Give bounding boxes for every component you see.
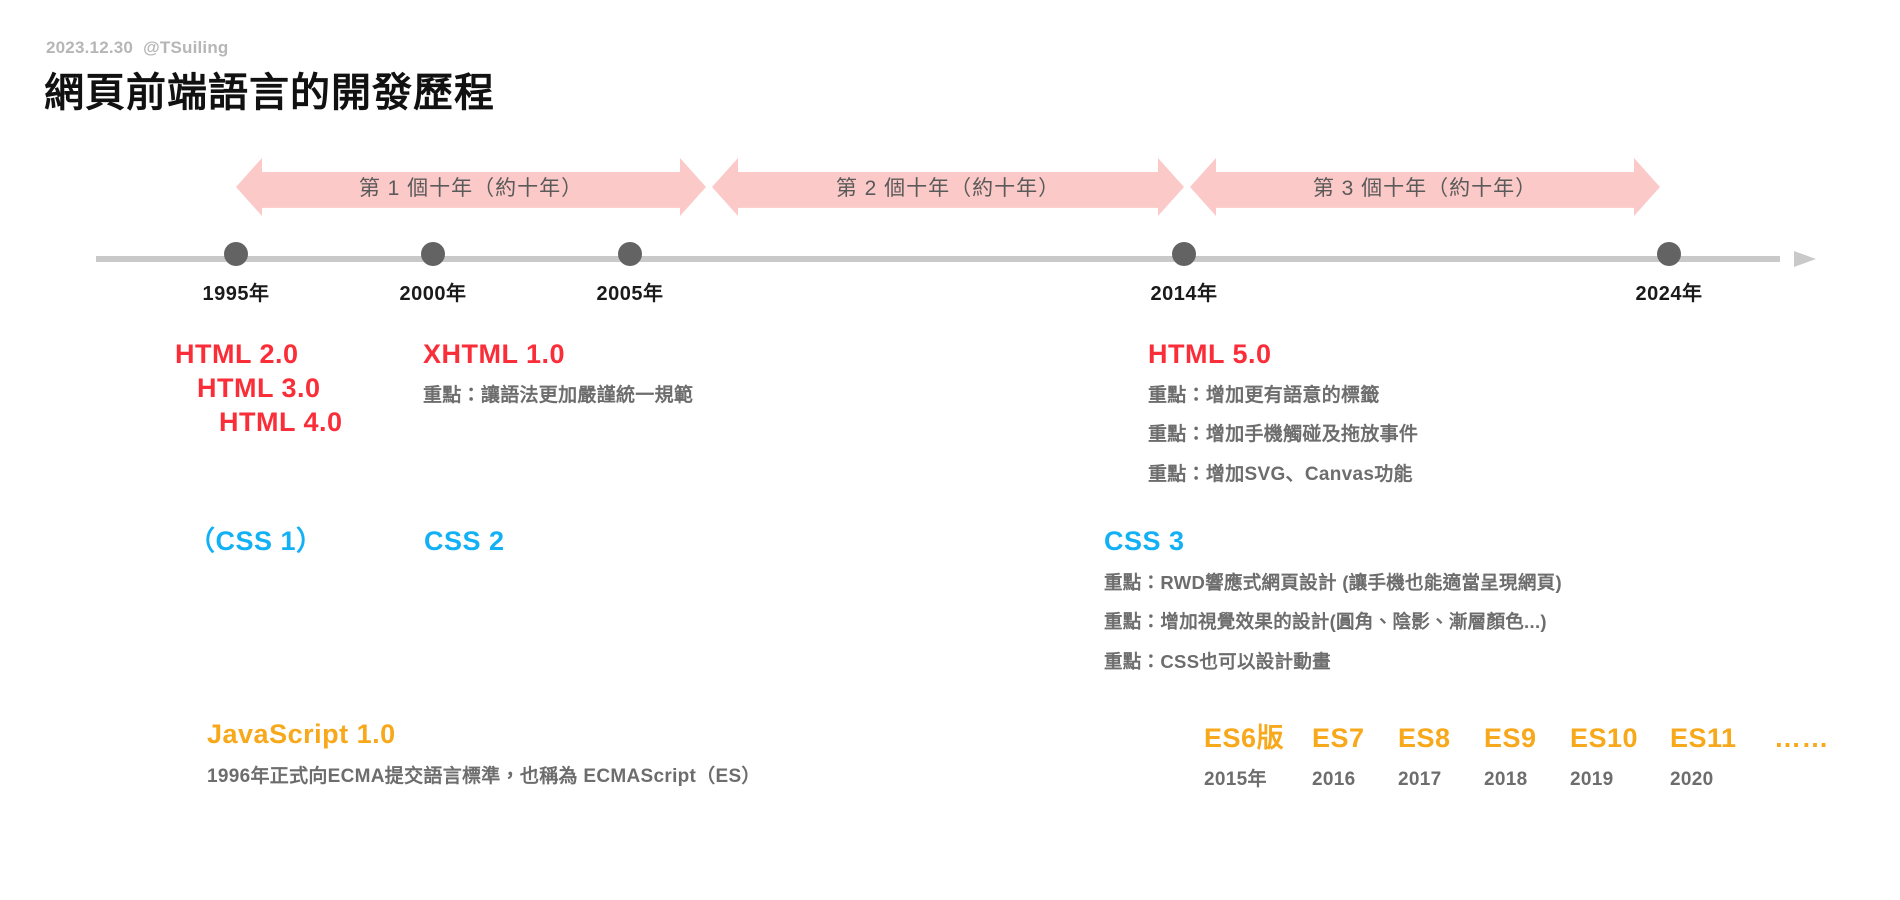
decade-arrow-3: 第 3 個十年（約十年） — [1190, 158, 1660, 216]
es-version-es9: ES9 — [1484, 723, 1570, 754]
css1-heading: （CSS 1） — [188, 525, 324, 559]
javascript-description: 1996年正式向ECMA提交語言標準，也稱為 ECMAScript（ES） — [207, 761, 761, 793]
timeline-node-1995 — [224, 242, 248, 266]
ecmascript-versions-block: ES6版 ES7 ES8 ES9 ES10 ES11 …… 2015年 2016… — [1204, 716, 1829, 791]
year-label-2000: 2000年 — [400, 277, 467, 306]
page-title: 網頁前端語言的開發歷程 — [44, 60, 495, 118]
es-year-2015: 2015年 — [1204, 764, 1312, 791]
css1-block: （CSS 1） — [188, 525, 324, 559]
es-year-2016: 2016 — [1312, 769, 1398, 791]
decade-label-1: 第 1 個十年（約十年） — [359, 172, 583, 202]
html5-description-1: 重點：增加更有語意的標籤 — [1148, 380, 1418, 412]
html5-block: HTML 5.0 重點：增加更有語意的標籤 重點：增加手機觸碰及拖放事件 重點：… — [1148, 338, 1418, 490]
es-version-list: ES6版 ES7 ES8 ES9 ES10 ES11 …… — [1204, 716, 1829, 755]
year-label-2005: 2005年 — [597, 277, 664, 306]
html-3-label: HTML 3.0 — [197, 372, 343, 406]
es-version-es7: ES7 — [1312, 723, 1398, 754]
xhtml-description: 重點：讓語法更加嚴謹統一規範 — [423, 380, 693, 412]
es-year-2019: 2019 — [1570, 769, 1670, 791]
es-version-ellipsis: …… — [1774, 723, 1829, 754]
css2-block: CSS 2 — [424, 525, 505, 559]
axis-arrowhead-icon — [1794, 251, 1816, 267]
html-4-label: HTML 4.0 — [219, 406, 343, 440]
axis-line — [96, 256, 1780, 262]
html-early-versions-block: HTML 2.0 HTML 3.0 HTML 4.0 — [175, 338, 343, 439]
es-version-es11: ES11 — [1670, 723, 1774, 754]
es-year-2017: 2017 — [1398, 769, 1484, 791]
decade-arrow-group: 第 1 個十年（約十年） 第 2 個十年（約十年） 第 3 個十年（約十年） — [0, 158, 1900, 220]
es-version-es6: ES6版 — [1204, 716, 1312, 755]
year-label-2014: 2014年 — [1151, 277, 1218, 306]
es-year-list: 2015年 2016 2017 2018 2019 2020 — [1204, 764, 1829, 791]
css3-description-2: 重點：增加視覺效果的設計(圓角、陰影、漸層顏色...) — [1104, 607, 1562, 638]
javascript-heading: JavaScript 1.0 — [207, 718, 761, 752]
css3-heading: CSS 3 — [1104, 525, 1562, 559]
timeline-node-2005 — [618, 242, 642, 266]
author-handle: @TSuiling — [143, 38, 228, 57]
xhtml-block: XHTML 1.0 重點：讓語法更加嚴謹統一規範 — [423, 338, 693, 411]
xhtml-heading: XHTML 1.0 — [423, 338, 693, 372]
decade-label-2: 第 2 個十年（約十年） — [836, 172, 1060, 202]
decade-arrow-2: 第 2 個十年（約十年） — [712, 158, 1184, 216]
javascript-block: JavaScript 1.0 1996年正式向ECMA提交語言標準，也稱為 EC… — [207, 718, 761, 792]
html5-description-2: 重點：增加手機觸碰及拖放事件 — [1148, 419, 1418, 451]
timeline-node-2000 — [421, 242, 445, 266]
timeline-node-2024 — [1657, 242, 1681, 266]
html5-description-3: 重點：增加SVG、Canvas功能 — [1148, 459, 1418, 491]
byline: 2023.12.30@TSuiling — [46, 38, 229, 58]
timeline-node-2014 — [1172, 242, 1196, 266]
decade-arrow-1: 第 1 個十年（約十年） — [236, 158, 706, 216]
css2-heading: CSS 2 — [424, 525, 505, 559]
year-label-1995: 1995年 — [203, 277, 270, 306]
es-year-2020: 2020 — [1670, 769, 1774, 791]
html5-heading: HTML 5.0 — [1148, 338, 1418, 372]
css3-description-3: 重點：CSS也可以設計動畫 — [1104, 647, 1562, 678]
year-label-2024: 2024年 — [1636, 277, 1703, 306]
es-version-es8: ES8 — [1398, 723, 1484, 754]
html-2-label: HTML 2.0 — [175, 338, 343, 372]
css3-description-1: 重點：RWD響應式網頁設計 (讓手機也能適當呈現網頁) — [1104, 568, 1562, 599]
es-version-es10: ES10 — [1570, 723, 1670, 754]
es-year-2018: 2018 — [1484, 769, 1570, 791]
css3-block: CSS 3 重點：RWD響應式網頁設計 (讓手機也能適當呈現網頁) 重點：增加視… — [1104, 525, 1562, 678]
decade-label-3: 第 3 個十年（約十年） — [1313, 172, 1537, 202]
infographic-canvas: 2023.12.30@TSuiling 網頁前端語言的開發歷程 第 1 個十年（… — [0, 0, 1900, 900]
publish-date: 2023.12.30 — [46, 38, 133, 57]
timeline-axis: 1995年 2000年 2005年 2014年 2024年 — [96, 251, 1816, 267]
